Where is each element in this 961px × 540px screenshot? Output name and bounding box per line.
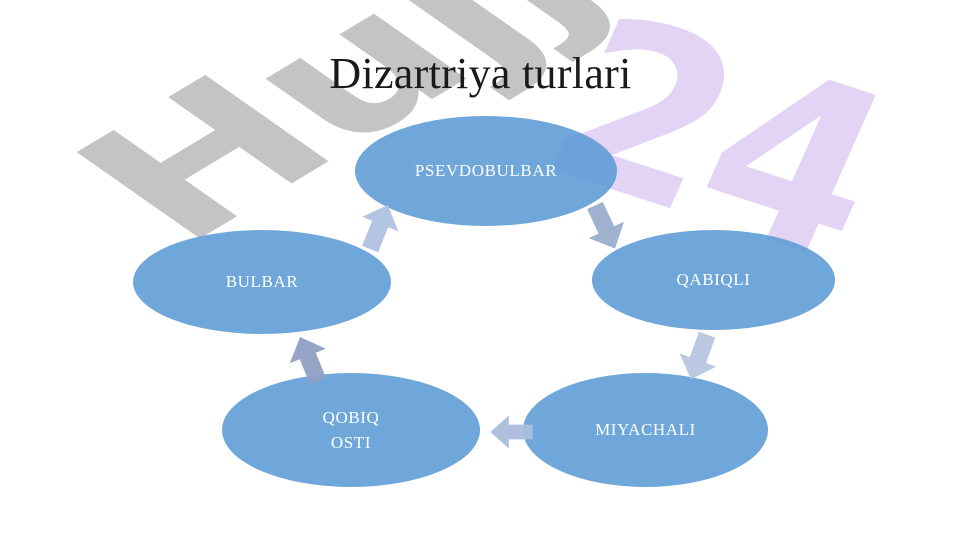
arrow-down-left-icon xyxy=(672,330,726,389)
node-qobiq-osti-label-line1: QOBIQ xyxy=(323,405,380,431)
node-miyachali[interactable]: MIYACHALI xyxy=(523,373,768,487)
node-miyachali-label: MIYACHALI xyxy=(595,417,696,443)
node-bulbar-label: BULBAR xyxy=(226,269,299,295)
node-qabiqli-label: QABIQLI xyxy=(676,267,750,293)
arrow-up-left-icon xyxy=(282,332,336,391)
node-psevdobulbar-label: PSEVDOBULBAR xyxy=(415,158,557,184)
arrow-down-right-icon xyxy=(578,200,632,259)
slide-canvas: 24 Hujjat Dizartriya turlari PSEVDOBULBA… xyxy=(0,0,961,540)
node-qobiq-osti-label-line2: OSTI xyxy=(323,430,380,456)
node-qobiq-osti-label: QOBIQ OSTI xyxy=(323,405,380,456)
slide-title: Dizartriya turlari xyxy=(0,48,961,99)
arrow-left-icon xyxy=(489,404,535,465)
arrow-up-right-icon xyxy=(352,200,406,259)
node-qobiq-osti[interactable]: QOBIQ OSTI xyxy=(222,373,480,487)
